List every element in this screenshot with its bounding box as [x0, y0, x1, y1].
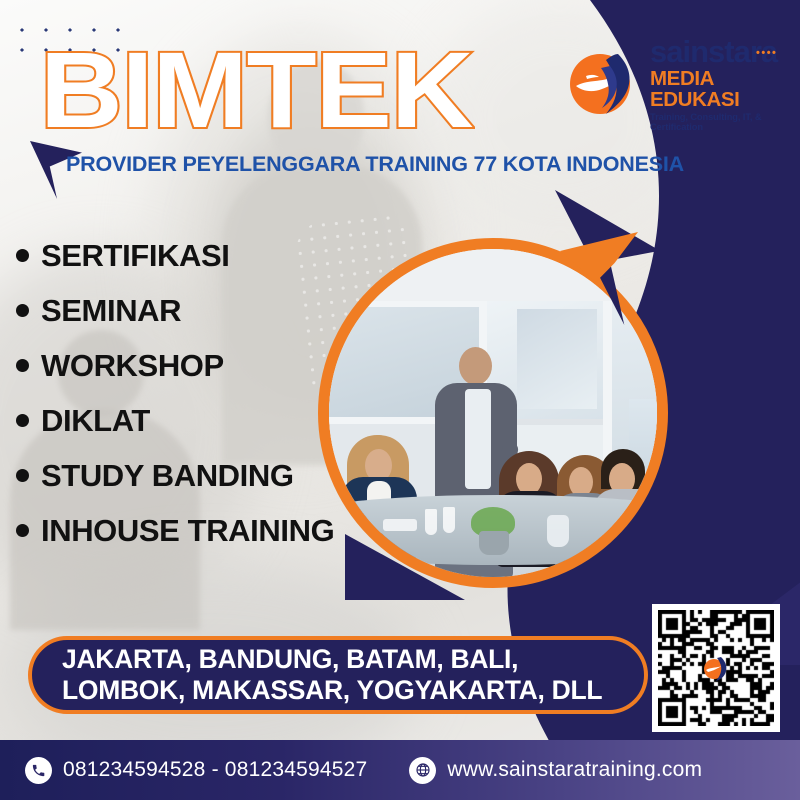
sainstara-logo-icon	[703, 655, 729, 681]
bullet-icon	[16, 524, 29, 537]
service-item: WORKSHOP	[8, 338, 378, 393]
flame-globe-logo-icon	[566, 46, 642, 122]
cities-line-2: LOMBOK, MAKASSAR, YOGYAKARTA, DLL	[62, 675, 644, 706]
bullet-icon	[16, 359, 29, 372]
glass	[425, 509, 437, 535]
vase	[479, 531, 509, 555]
pitcher	[547, 515, 569, 547]
service-label: WORKSHOP	[41, 348, 224, 384]
website-contact[interactable]: www.sainstaratraining.com	[409, 757, 702, 784]
bullet-icon	[16, 469, 29, 482]
phone-icon	[25, 757, 52, 784]
service-item: STUDY BANDING	[8, 448, 378, 503]
service-label: SERTIFIKASI	[41, 238, 230, 274]
service-label: SEMINAR	[41, 293, 181, 329]
logo-line2: MEDIA EDUKASI	[650, 69, 792, 110]
service-item: SEMINAR	[8, 283, 378, 338]
notebook	[383, 519, 417, 531]
logo-accent-dots: ••••	[756, 47, 777, 59]
service-item: DIKLAT	[8, 393, 378, 448]
bullet-icon	[16, 414, 29, 427]
qr-code-icon[interactable]	[652, 604, 780, 732]
page-title: BIMTEK	[40, 36, 472, 144]
contact-footer: 081234594528 - 081234594527 www.sainstar…	[0, 740, 800, 800]
cities-line-1: JAKARTA, BANDUNG, BATAM, BALI,	[62, 644, 644, 675]
bullet-icon	[16, 304, 29, 317]
service-item: SERTIFIKASI	[8, 228, 378, 283]
phone-number: 081234594528 - 081234594527	[63, 758, 367, 782]
page-subtitle: PROVIDER PEYELENGGARA TRAINING 77 KOTA I…	[66, 152, 684, 177]
phone-contact[interactable]: 081234594528 - 081234594527	[25, 757, 367, 784]
service-item: INHOUSE TRAINING	[8, 503, 378, 558]
flyer-poster: sainstara MEDIA EDUKASI Training, Consul…	[0, 0, 800, 800]
services-list: SERTIFIKASISEMINARWORKSHOPDIKLATSTUDY BA…	[8, 228, 378, 558]
cities-banner: JAKARTA, BANDUNG, BATAM, BALI, LOMBOK, M…	[28, 636, 648, 714]
glass	[443, 507, 455, 533]
website-url: www.sainstaratraining.com	[447, 758, 702, 782]
service-label: STUDY BANDING	[41, 458, 294, 494]
service-label: INHOUSE TRAINING	[41, 513, 334, 549]
globe-icon	[409, 757, 436, 784]
service-label: DIKLAT	[41, 403, 150, 439]
logo-tagline: Training, Consulting, IT, & Certificatio…	[650, 113, 792, 132]
bullet-icon	[16, 249, 29, 262]
